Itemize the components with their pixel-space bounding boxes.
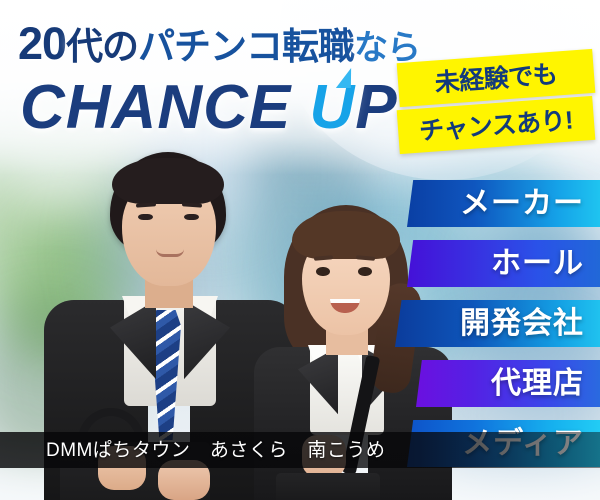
logo-letter-u: U: [309, 72, 355, 143]
chance-up-logo: CHANCE UP: [20, 72, 398, 143]
category-item-maker[interactable]: メーカー: [407, 180, 600, 227]
category-label: メーカー: [460, 180, 584, 227]
headline-number: 20: [18, 18, 66, 69]
headline-segment-dai: 代の: [66, 26, 138, 67]
category-label: 代理店: [491, 360, 584, 407]
caption-credit: DMMぱちタウン あさくら 南こうめ: [46, 435, 385, 462]
logo-letter-p: P: [355, 73, 397, 142]
experience-badge: 未経験でも チャンスあり!: [398, 56, 594, 147]
category-item-agency[interactable]: 代理店: [416, 360, 600, 407]
category-item-development-company[interactable]: 開発会社: [395, 300, 600, 347]
category-item-hall[interactable]: ホール: [407, 240, 600, 287]
headline: 20代のパチンコ転職なら: [18, 16, 420, 70]
promotional-banner: 20代のパチンコ転職なら CHANCE UP 未経験でも チャンスあり! メーカ…: [0, 0, 600, 500]
category-label: 開発会社: [460, 300, 584, 347]
headline-segment-mid: パチンコ転職: [138, 26, 354, 67]
category-label: ホール: [491, 240, 584, 287]
logo-text-chance: CHANCE: [20, 73, 309, 142]
